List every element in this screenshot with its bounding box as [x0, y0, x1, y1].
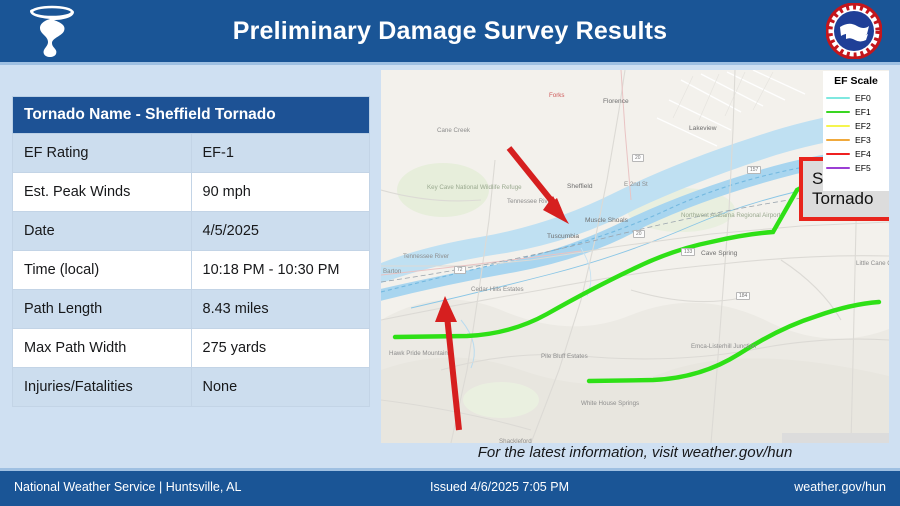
row-value-injuries: None — [191, 368, 370, 407]
footnote-text: For the latest information, visit weathe… — [381, 444, 889, 461]
map-label: Cane Creek — [437, 127, 470, 134]
row-value-time: 10:18 PM - 10:30 PM — [191, 251, 370, 290]
row-value-peak-winds: 90 mph — [191, 173, 370, 212]
footer-website[interactable]: weather.gov/hun — [794, 480, 886, 494]
row-label-time: Time (local) — [13, 251, 192, 290]
callout-tuscumbia-line1: Tuscumbia — [790, 442, 889, 443]
map-label: Pile Bluff Estates — [541, 353, 588, 360]
tornado-info-table: Tornado Name - Sheffield Tornado EF Rati… — [12, 96, 370, 407]
map-label: E 2nd St — [624, 181, 648, 188]
table-row: Max Path Width 275 yards — [13, 329, 370, 368]
footer-bar: National Weather Service | Huntsville, A… — [0, 471, 900, 506]
legend-label-ef4: EF4 — [855, 149, 871, 159]
legend-row-ef5: EF5 — [823, 161, 889, 175]
row-label-path-width: Max Path Width — [13, 329, 192, 368]
map-label: Key Cave National Wildlife Refuge — [427, 184, 522, 191]
legend-title: EF Scale — [823, 75, 889, 87]
row-label-ef-rating: EF Rating — [13, 134, 192, 173]
legend-swatch-ef3 — [826, 139, 850, 142]
legend-label-ef3: EF3 — [855, 135, 871, 145]
map-label: Emca-Listerhill Junction — [691, 343, 756, 350]
map-label: Lakeview — [689, 125, 717, 132]
ef-scale-legend: EF Scale EF0EF1EF2EF3EF4EF5 — [823, 71, 889, 191]
row-label-path-length: Path Length — [13, 290, 192, 329]
legend-swatch-ef2 — [826, 125, 850, 128]
map-label: Muscle Shoals — [585, 217, 628, 224]
table-row: Date 4/5/2025 — [13, 212, 370, 251]
map-label: Tennessee River — [403, 253, 449, 260]
map-label: Little Cane Creek — [856, 260, 889, 267]
map-label: Shackleford — [499, 438, 532, 443]
row-value-date: 4/5/2025 — [191, 212, 370, 251]
table-row: Est. Peak Winds 90 mph — [13, 173, 370, 212]
map-label: Sheffield — [567, 183, 593, 190]
map-label: Northwest Alabama Regional Airport — [681, 212, 780, 219]
highway-shield: 157 — [747, 166, 761, 174]
row-value-path-length: 8.43 miles — [191, 290, 370, 329]
table-title-row: Tornado Name - Sheffield Tornado — [13, 97, 370, 134]
damage-survey-map[interactable]: ForksFlorenceLakeviewE 2nd StSheffieldMu… — [381, 70, 889, 443]
legend-swatch-ef5 — [826, 167, 850, 170]
tornado-info-panel: Tornado Name - Sheffield Tornado EF Rati… — [12, 96, 370, 407]
legend-swatch-ef0 — [826, 97, 850, 100]
map-label: Tuscumbia — [547, 233, 579, 240]
slide-root: Preliminary Damage Survey Results Tornad… — [0, 0, 900, 506]
footer-issued: Issued 4/6/2025 7:05 PM — [430, 480, 569, 494]
table-row: Time (local) 10:18 PM - 10:30 PM — [13, 251, 370, 290]
map-label: Forks — [549, 92, 564, 99]
footer-office: National Weather Service | Huntsville, A… — [14, 480, 241, 494]
highway-shield: 20 — [633, 230, 645, 238]
highway-shield: 20 — [632, 154, 644, 162]
map-label: Tennessee River — [507, 198, 553, 205]
row-value-path-width: 275 yards — [191, 329, 370, 368]
legend-row-ef2: EF2 — [823, 119, 889, 133]
highway-shield: 133 — [681, 248, 695, 256]
legend-row-ef3: EF3 — [823, 133, 889, 147]
legend-row-ef0: EF0 — [823, 91, 889, 105]
table-row: Injuries/Fatalities None — [13, 368, 370, 407]
map-label: Cedar Hills Estates — [471, 286, 524, 293]
highway-shield: 184 — [736, 292, 750, 300]
header-bar: Preliminary Damage Survey Results — [0, 0, 900, 62]
nws-seal-icon — [826, 3, 882, 59]
map-label: Cave Spring — [701, 250, 737, 257]
legend-label-ef2: EF2 — [855, 121, 871, 131]
legend-label-ef5: EF5 — [855, 163, 871, 173]
legend-rows: EF0EF1EF2EF3EF4EF5 — [823, 91, 889, 175]
table-row: Path Length 8.43 miles — [13, 290, 370, 329]
legend-swatch-ef1 — [826, 111, 850, 114]
page-title: Preliminary Damage Survey Results — [0, 0, 900, 62]
map-label: Barton — [383, 268, 401, 275]
header-underline — [0, 62, 900, 65]
table-row: EF Rating EF-1 — [13, 134, 370, 173]
legend-row-ef1: EF1 — [823, 105, 889, 119]
legend-label-ef1: EF1 — [855, 107, 871, 117]
row-label-injuries: Injuries/Fatalities — [13, 368, 192, 407]
map-label: Hawk Pride Mountain — [389, 350, 448, 357]
highway-shield: 72 — [454, 266, 466, 274]
row-label-date: Date — [13, 212, 192, 251]
map-label: Florence — [603, 98, 629, 105]
table-title: Tornado Name - Sheffield Tornado — [13, 97, 370, 134]
row-label-peak-winds: Est. Peak Winds — [13, 173, 192, 212]
callout-tuscumbia-tornado: Tuscumbia Tornado — [782, 433, 889, 443]
legend-swatch-ef4 — [826, 153, 850, 156]
legend-label-ef0: EF0 — [855, 93, 871, 103]
row-value-ef-rating: EF-1 — [191, 134, 370, 173]
map-label: White House Springs — [581, 400, 639, 407]
map-basemap — [381, 70, 889, 443]
legend-row-ef4: EF4 — [823, 147, 889, 161]
callout-sheffield-line2: Tornado — [812, 189, 889, 209]
